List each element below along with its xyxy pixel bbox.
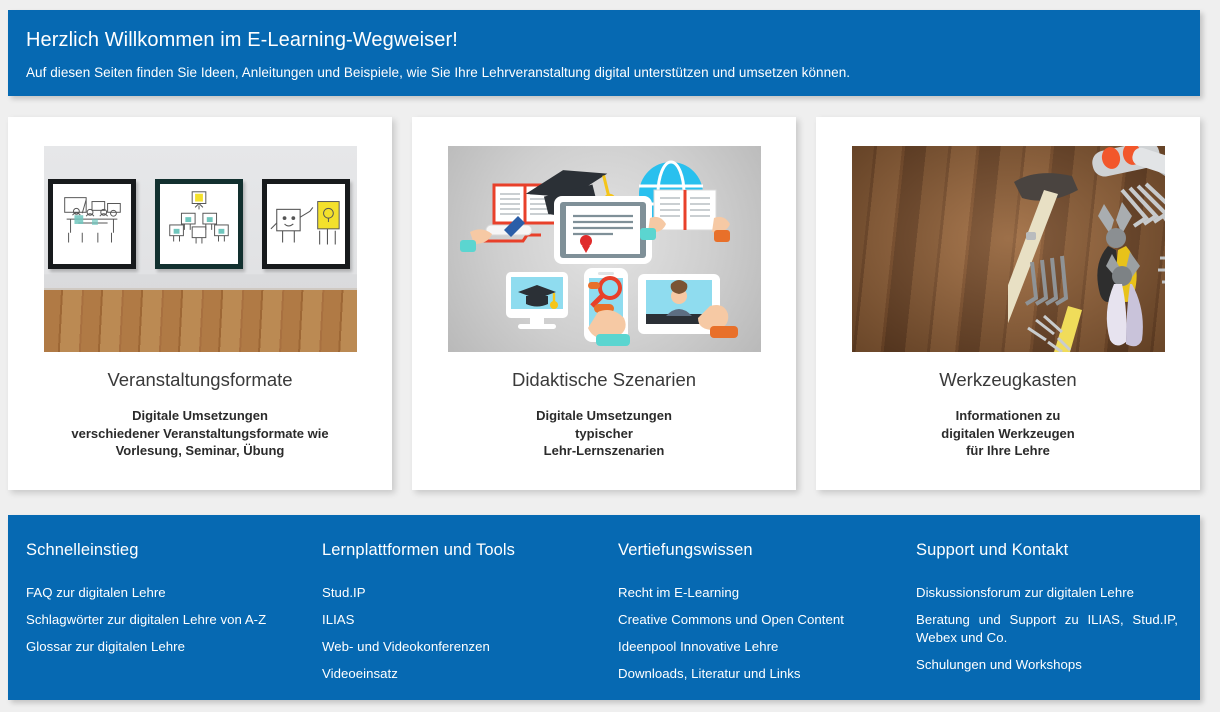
footer-link-list: Recht im E-Learning Creative Commons und… [618, 584, 888, 683]
tools-on-wood-image [852, 146, 1165, 352]
e-learning-flat-illustration-image [448, 146, 761, 352]
card-description: Digitale Umsetzungen typischer Lehr-Lern… [440, 407, 768, 460]
card-description: Digitale Umsetzungen verschiedener Veran… [36, 407, 364, 460]
screws-icon [1158, 258, 1165, 282]
footer-link-list: Diskussionsforum zur digitalen Lehre Ber… [916, 584, 1178, 674]
footer-link[interactable]: Diskussionsforum zur digitalen Lehre [916, 584, 1178, 602]
footer-link[interactable]: Beratung und Support zu ILIAS, Stud.IP, … [916, 611, 1178, 647]
gallery-wall-framed-sketches-image [44, 146, 357, 352]
footer-column-support-und-kontakt: Support und Kontakt Diskussionsforum zur… [902, 539, 1200, 700]
footer-link[interactable]: Creative Commons und Open Content [618, 611, 888, 629]
certificate-tablet-icon [554, 196, 652, 264]
picture-frame-icon [48, 179, 136, 269]
card-title: Didaktische Szenarien [440, 368, 768, 392]
picture-frame-icon [155, 179, 243, 269]
card-title: Veranstaltungsformate [36, 368, 364, 392]
footer-column-vertiefungswissen: Vertiefungswissen Recht im E-Learning Cr… [604, 539, 902, 700]
topic-card-didaktische-szenarien[interactable]: Didaktische Szenarien Digitale Umsetzung… [412, 117, 796, 490]
card-description: Informationen zu digitalen Werkzeugen fü… [844, 407, 1172, 460]
wooden-floor [44, 288, 357, 352]
footer-link[interactable]: Videoeinsatz [322, 665, 590, 683]
footer-link[interactable]: Glossar zur digitalen Lehre [26, 638, 292, 656]
footer-column-heading: Vertiefungswissen [618, 539, 888, 561]
footer-link[interactable]: ILIAS [322, 611, 590, 629]
footer-link[interactable]: FAQ zur digitalen Lehre [26, 584, 292, 602]
monitor-icon [506, 272, 568, 329]
footer-link-list: FAQ zur digitalen Lehre Schlagwörter zur… [26, 584, 292, 656]
video-tablet-icon [638, 274, 738, 338]
footer-link[interactable]: Schlagwörter zur digitalen Lehre von A-Z [26, 611, 292, 629]
card-title: Werkzeugkasten [844, 368, 1172, 392]
picture-frame-icon [262, 179, 350, 269]
footer-link[interactable]: Ideenpool Innovative Lehre [618, 638, 888, 656]
footer-column-schnelleinstieg: Schnelleinstieg FAQ zur digitalen Lehre … [8, 539, 306, 700]
footer-link-list: Stud.IP ILIAS Web- und Videokonferenzen … [322, 584, 590, 683]
footer-link[interactable]: Downloads, Literatur und Links [618, 665, 888, 683]
footer-column-heading: Lernplattformen und Tools [322, 539, 590, 561]
footer-link[interactable]: Schulungen und Workshops [916, 656, 1178, 674]
smartphone-search-icon [584, 268, 630, 346]
footer-column-heading: Support und Kontakt [916, 539, 1178, 561]
footer-link[interactable]: Stud.IP [322, 584, 590, 602]
topic-card-veranstaltungsformate[interactable]: Veranstaltungsformate Digitale Umsetzung… [8, 117, 392, 490]
welcome-banner: Herzlich Willkommen im E-Learning-Wegwei… [8, 10, 1200, 96]
topic-card-row: Veranstaltungsformate Digitale Umsetzung… [8, 117, 1200, 490]
footer-link[interactable]: Web- und Videokonferenzen [322, 638, 590, 656]
banner-subtitle: Auf diesen Seiten finden Sie Ideen, Anle… [26, 63, 1178, 82]
footer-column-lernplattformen-und-tools: Lernplattformen und Tools Stud.IP ILIAS … [306, 539, 604, 700]
hands-with-book-icon [640, 190, 730, 242]
banner-title: Herzlich Willkommen im E-Learning-Wegwei… [26, 27, 1178, 53]
footer-column-heading: Schnelleinstieg [26, 539, 292, 561]
allen-keys-icon [1026, 256, 1066, 304]
topic-card-werkzeugkasten[interactable]: Werkzeugkasten Informationen zu digitale… [816, 117, 1200, 490]
footer-link[interactable]: Recht im E-Learning [618, 584, 888, 602]
link-footer: Schnelleinstieg FAQ zur digitalen Lehre … [8, 515, 1200, 700]
